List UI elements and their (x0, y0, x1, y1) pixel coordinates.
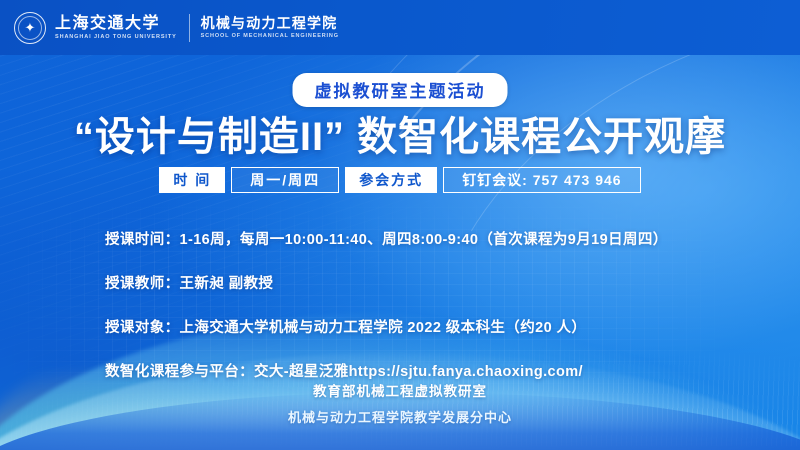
school-name-cn: 机械与动力工程学院 (201, 16, 339, 31)
university-name-cn: 上海交通大学 (55, 15, 177, 32)
time-value: 周一/周四 (231, 167, 339, 193)
detail-list: 授课时间：1-16周，每周一10:00-11:40、周四8:00-9:40（首次… (105, 228, 760, 404)
logo-block: ✦ 上海交通大学 SHANGHAI JIAO TONG UNIVERSITY 机… (14, 12, 339, 44)
detail-line-platform: 数智化课程参与平台：交大-超星泛雅https://sjtu.fanya.chao… (105, 360, 760, 381)
page-title: “设计与制造II” 数智化课程公开观摩 (0, 104, 800, 162)
join-method-value: 钉钉会议: 757 473 946 (443, 167, 640, 193)
seal-star-glyph: ✦ (25, 21, 36, 34)
footer-line-1: 教育部机械工程虚拟教研室 (0, 380, 800, 400)
school-name-en: SCHOOL OF MECHANICAL ENGINEERING (201, 33, 339, 39)
school-name: 机械与动力工程学院 SCHOOL OF MECHANICAL ENGINEERI… (201, 16, 339, 40)
sjtu-seal-icon: ✦ (14, 12, 46, 44)
time-label: 时 间 (159, 167, 225, 193)
poster-root: ✦ 上海交通大学 SHANGHAI JIAO TONG UNIVERSITY 机… (0, 0, 800, 450)
detail-line-audience: 授课对象：上海交通大学机械与动力工程学院 2022 级本科生（约20 人） (105, 316, 760, 337)
header-divider (189, 14, 190, 42)
university-name-en: SHANGHAI JIAO TONG UNIVERSITY (55, 34, 177, 40)
info-bar: 时 间 周一/周四 参会方式 钉钉会议: 757 473 946 (0, 167, 800, 193)
footer-line-2: 机械与动力工程学院教学发展分中心 (0, 407, 800, 426)
poster-content: 虚拟教研室主题活动 “设计与制造II” 数智化课程公开观摩 时 间 周一/周四 … (0, 0, 800, 450)
detail-line-schedule: 授课时间：1-16周，每周一10:00-11:40、周四8:00-9:40（首次… (105, 228, 760, 249)
join-method-label: 参会方式 (345, 167, 437, 193)
event-badge: 虚拟教研室主题活动 (293, 73, 508, 107)
footer-block: 教育部机械工程虚拟教研室 机械与动力工程学院教学发展分中心 (0, 380, 800, 426)
university-name: 上海交通大学 SHANGHAI JIAO TONG UNIVERSITY (55, 15, 177, 40)
header-bar: ✦ 上海交通大学 SHANGHAI JIAO TONG UNIVERSITY 机… (0, 0, 800, 55)
detail-line-instructor: 授课教师：王新昶 副教授 (105, 272, 760, 293)
